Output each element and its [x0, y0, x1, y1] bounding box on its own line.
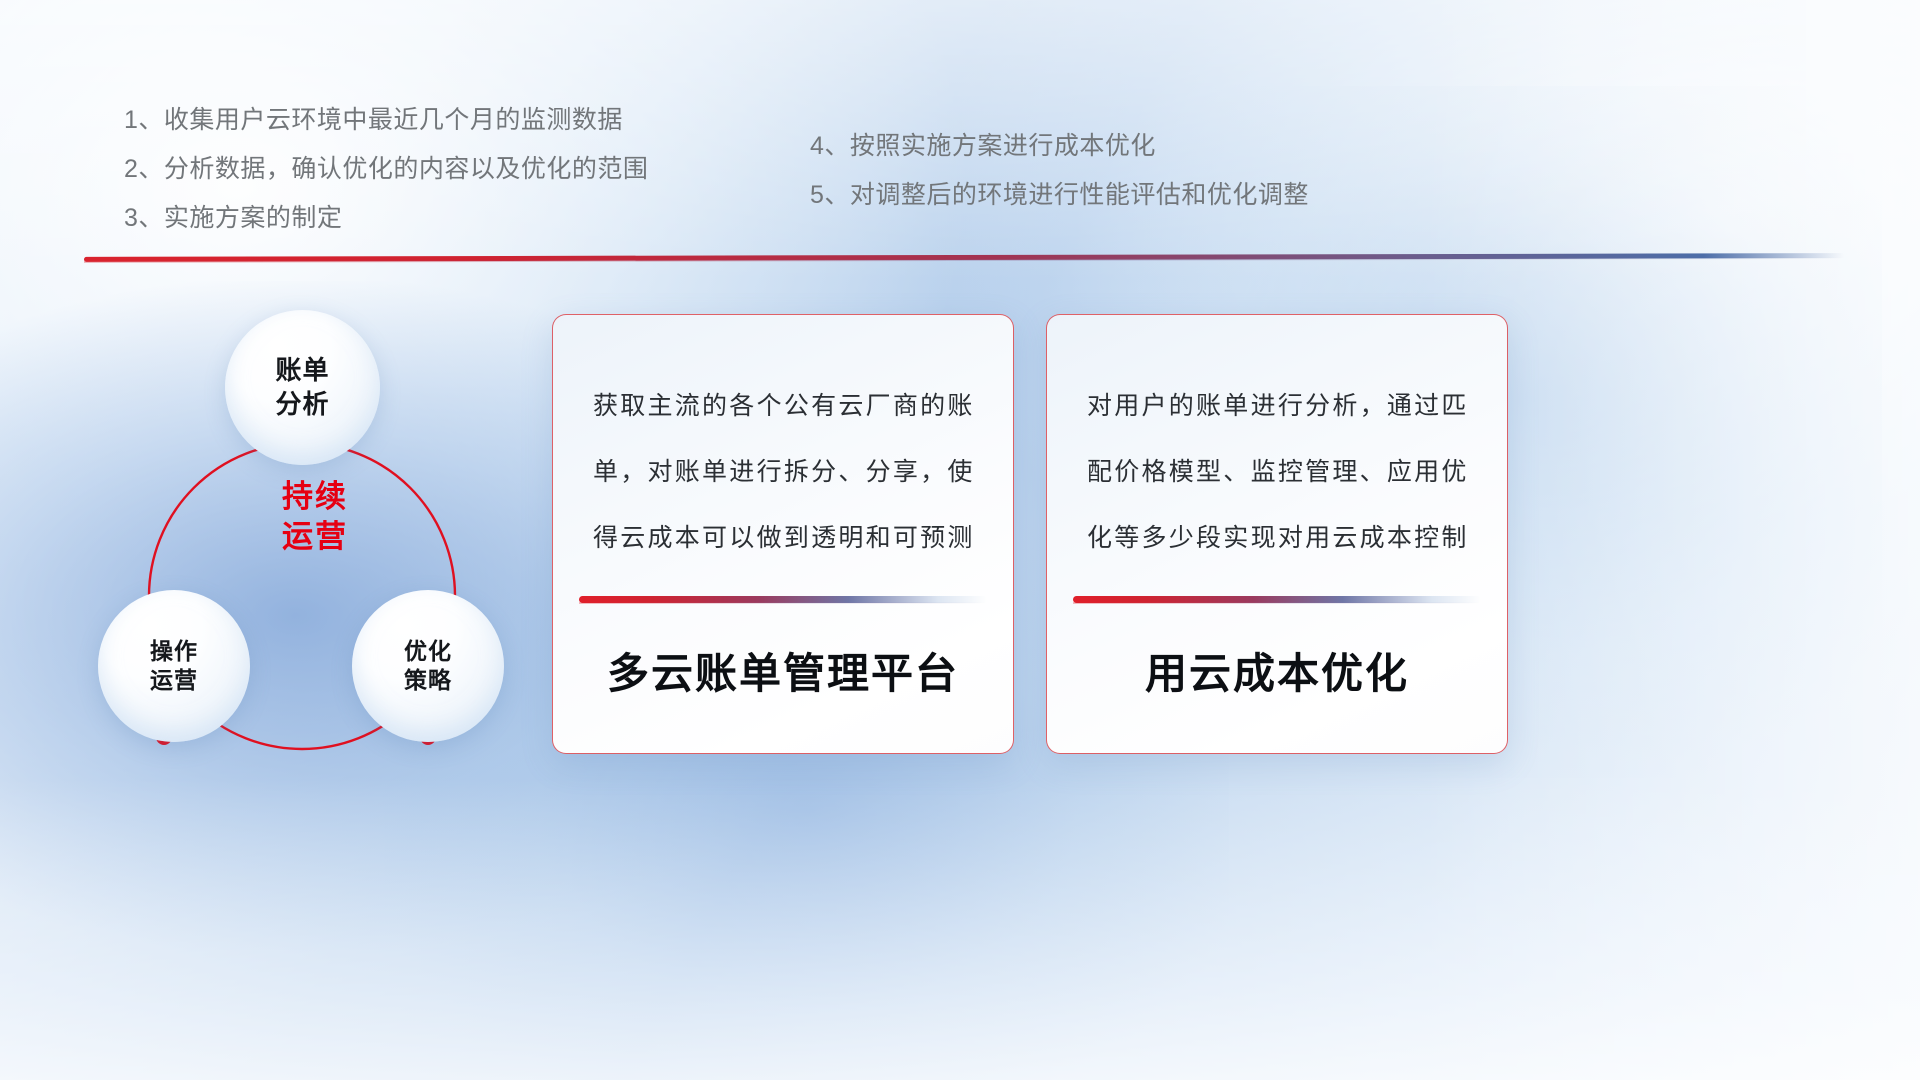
node-label-line2: 分析: [275, 388, 329, 421]
diagram-node-operations[interactable]: 操作 运营: [98, 590, 250, 742]
bullet-item: 3、实施方案的制定: [124, 194, 824, 243]
bullet-item: 4、按照实施方案进行成本优化: [810, 122, 1450, 171]
card-multicloud-billing[interactable]: 获取主流的各个公有云厂商的账单，对账单进行拆分、分享，使得云成本可以做到透明和可…: [552, 314, 1014, 754]
card-divider: [579, 596, 987, 603]
card-title: 多云账单管理平台: [553, 640, 1013, 701]
card-cloud-cost-optimization[interactable]: 对用户的账单进行分析，通过匹配价格模型、监控管理、应用优化等多少段实现对用云成本…: [1046, 314, 1508, 754]
card-title: 用云成本优化: [1047, 640, 1507, 701]
center-label-line1: 持续: [80, 477, 550, 517]
card-divider: [1073, 596, 1481, 603]
card-body-text: 获取主流的各个公有云厂商的账单，对账单进行拆分、分享，使得云成本可以做到透明和可…: [593, 373, 973, 571]
node-label-line2: 策略: [404, 666, 452, 695]
cycle-diagram: 账单 分析 操作 运营 优化 策略 持续 运营: [80, 285, 550, 775]
node-label-line1: 操作: [150, 637, 198, 666]
bullet-item: 2、分析数据，确认优化的内容以及优化的范围: [124, 145, 824, 194]
bullet-list-left: 1、收集用户云环境中最近几个月的监测数据 2、分析数据，确认优化的内容以及优化的…: [124, 96, 824, 243]
diagram-node-optimization-strategy[interactable]: 优化 策略: [352, 590, 504, 742]
node-label-line1: 优化: [404, 637, 452, 666]
bullet-item: 1、收集用户云环境中最近几个月的监测数据: [124, 96, 824, 145]
card-body-text: 对用户的账单进行分析，通过匹配价格模型、监控管理、应用优化等多少段实现对用云成本…: [1087, 373, 1467, 571]
node-label-line1: 账单: [275, 354, 329, 387]
bullet-list-right: 4、按照实施方案进行成本优化 5、对调整后的环境进行性能评估和优化调整: [810, 122, 1450, 220]
node-label-line2: 运营: [150, 666, 198, 695]
center-label-line2: 运营: [80, 517, 550, 557]
bullet-item: 5、对调整后的环境进行性能评估和优化调整: [810, 171, 1450, 220]
diagram-center-label: 持续 运营: [80, 477, 550, 556]
diagram-node-bill-analysis[interactable]: 账单 分析: [225, 310, 380, 465]
background-bottom-fade: [0, 778, 1920, 1080]
